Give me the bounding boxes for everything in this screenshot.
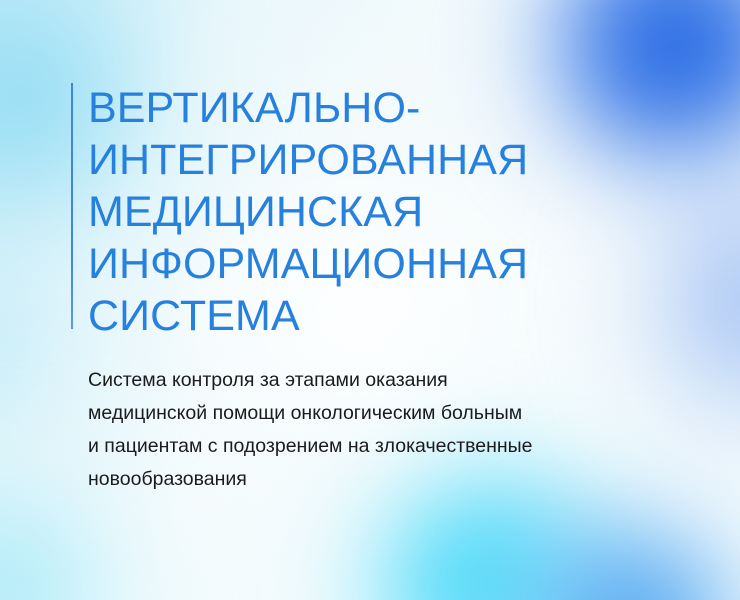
page-subtitle: Система контроля за этапами оказания мед…	[88, 364, 704, 496]
headline-block: ВЕРТИКАЛЬНО- ИНТЕГРИРОВАННАЯ МЕДИЦИНСКАЯ…	[71, 82, 528, 342]
hero-content: ВЕРТИКАЛЬНО- ИНТЕГРИРОВАННАЯ МЕДИЦИНСКАЯ…	[0, 0, 740, 600]
hero-poster: ВЕРТИКАЛЬНО- ИНТЕГРИРОВАННАЯ МЕДИЦИНСКАЯ…	[0, 0, 740, 600]
accent-rule	[71, 83, 73, 329]
page-title: ВЕРТИКАЛЬНО- ИНТЕГРИРОВАННАЯ МЕДИЦИНСКАЯ…	[88, 82, 528, 342]
